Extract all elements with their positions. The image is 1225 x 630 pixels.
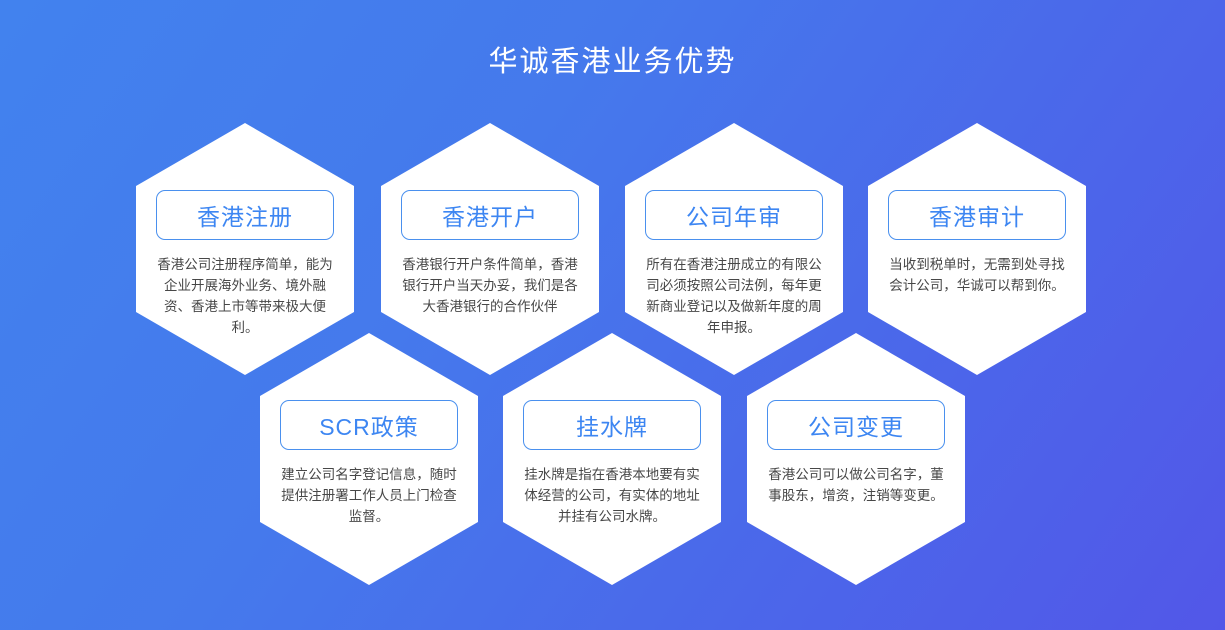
card-body-hk-registration: 香港公司注册程序简单，能为企业开展海外业务、境外融资、香港上市等带来极大便利。 [155,254,335,338]
card-body-hk-audit: 当收到税单时，无需到处寻找会计公司，华诚可以帮到你。 [887,254,1067,296]
card-content: 香港开户 香港银行开户条件简单，香港银行开户当天办妥，我们是各大香港银行的合作伙… [399,123,581,317]
card-scr-policy[interactable]: SCR政策 建立公司名字登记信息，随时提供注册署工作人员上门检查监督。 [260,333,478,585]
page-title: 华诚香港业务优势 [0,40,1225,84]
card-title-company-change[interactable]: 公司变更 [767,400,945,450]
card-hk-bank-account[interactable]: 香港开户 香港银行开户条件简单，香港银行开户当天办妥，我们是各大香港银行的合作伙… [381,123,599,375]
card-company-change[interactable]: 公司变更 香港公司可以做公司名字，董事股东，增资，注销等变更。 [747,333,965,585]
card-hk-audit[interactable]: 香港审计 当收到税单时，无需到处寻找会计公司，华诚可以帮到你。 [868,123,1086,375]
card-title-annual-review[interactable]: 公司年审 [645,190,823,240]
card-body-company-change: 香港公司可以做公司名字，董事股东，增资，注销等变更。 [766,464,946,506]
slide-canvas: 华诚香港业务优势 香港注册 香港公司注册程序简单，能为企业开展海外业务、境外融资… [0,0,1225,630]
card-content: 香港注册 香港公司注册程序简单，能为企业开展海外业务、境外融资、香港上市等带来极… [154,123,336,338]
card-content: 公司变更 香港公司可以做公司名字，董事股东，增资，注销等变更。 [765,333,947,506]
card-body-water-plate: 挂水牌是指在香港本地要有实体经营的公司，有实体的地址并挂有公司水牌。 [522,464,702,527]
card-title-scr-policy[interactable]: SCR政策 [280,400,458,450]
card-hk-registration[interactable]: 香港注册 香港公司注册程序简单，能为企业开展海外业务、境外融资、香港上市等带来极… [136,123,354,375]
card-title-water-plate[interactable]: 挂水牌 [523,400,701,450]
card-content: 挂水牌 挂水牌是指在香港本地要有实体经营的公司，有实体的地址并挂有公司水牌。 [521,333,703,527]
card-content: 香港审计 当收到税单时，无需到处寻找会计公司，华诚可以帮到你。 [886,123,1068,296]
card-content: 公司年审 所有在香港注册成立的有限公司必须按照公司法例，每年更新商业登记以及做新… [643,123,825,338]
card-title-hk-audit[interactable]: 香港审计 [888,190,1066,240]
card-body-scr-policy: 建立公司名字登记信息，随时提供注册署工作人员上门检查监督。 [279,464,459,527]
card-water-plate[interactable]: 挂水牌 挂水牌是指在香港本地要有实体经营的公司，有实体的地址并挂有公司水牌。 [503,333,721,585]
card-title-hk-bank-account[interactable]: 香港开户 [401,190,579,240]
card-content: SCR政策 建立公司名字登记信息，随时提供注册署工作人员上门检查监督。 [278,333,460,527]
card-body-hk-bank-account: 香港银行开户条件简单，香港银行开户当天办妥，我们是各大香港银行的合作伙伴 [400,254,580,317]
card-title-hk-registration[interactable]: 香港注册 [156,190,334,240]
card-annual-review[interactable]: 公司年审 所有在香港注册成立的有限公司必须按照公司法例，每年更新商业登记以及做新… [625,123,843,375]
card-body-annual-review: 所有在香港注册成立的有限公司必须按照公司法例，每年更新商业登记以及做新年度的周年… [644,254,824,338]
